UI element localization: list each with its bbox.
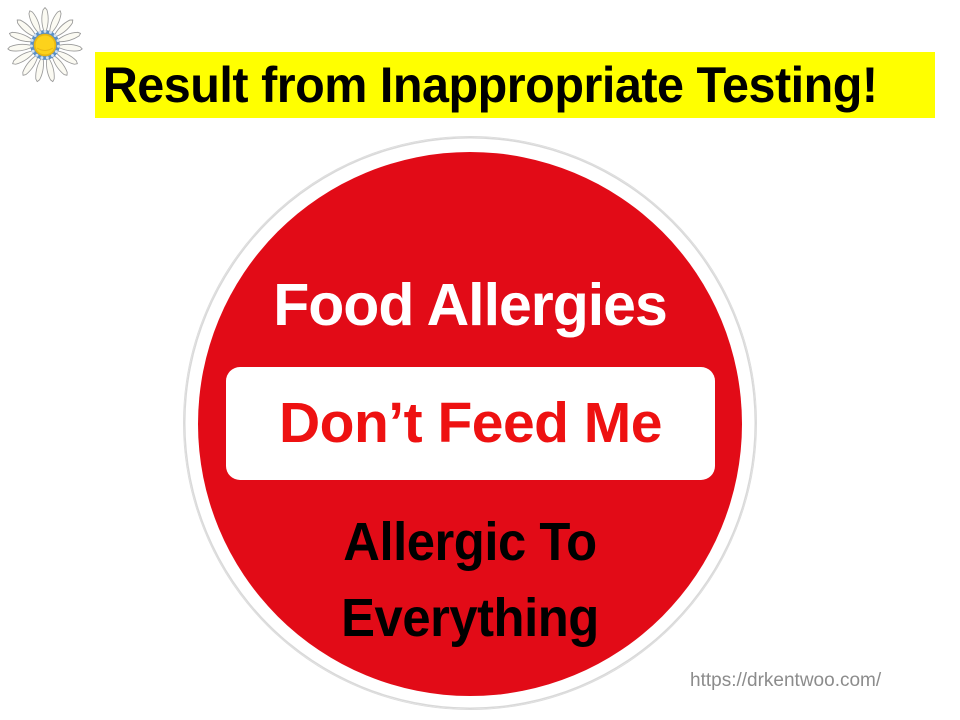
daisy-flower-logo: [6, 6, 84, 84]
sign-content: Food Allergies Don’t Feed Me Allergic To…: [183, 136, 757, 710]
allergy-warning-sign: Food Allergies Don’t Feed Me Allergic To…: [183, 136, 757, 710]
slide-canvas: Result from Inappropriate Testing! Food …: [0, 0, 960, 720]
sign-footer-line-1: Allergic To: [200, 504, 740, 580]
sign-footer: Allergic To Everything: [183, 504, 757, 656]
sign-callout-text: Don’t Feed Me: [279, 395, 662, 452]
sign-callout-box: Don’t Feed Me: [226, 367, 715, 480]
page-title: Result from Inappropriate Testing!: [95, 60, 878, 110]
title-banner: Result from Inappropriate Testing!: [95, 52, 935, 118]
sign-heading: Food Allergies: [183, 276, 757, 335]
sign-footer-line-2: Everything: [200, 580, 740, 656]
source-url[interactable]: https://drkentwoo.com/: [690, 670, 881, 692]
